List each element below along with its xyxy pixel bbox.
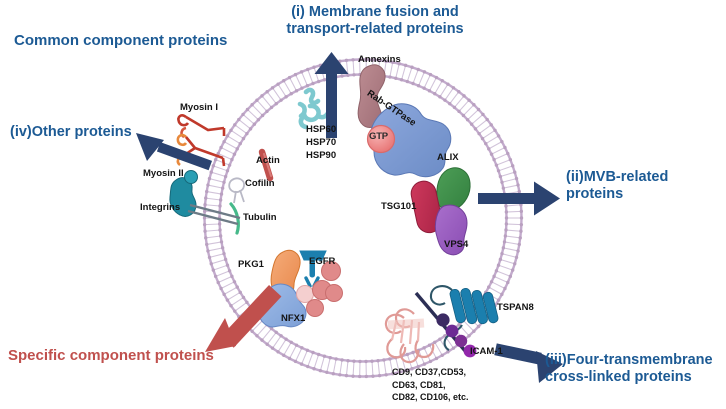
heading-i-line2: transport-related proteins: [286, 21, 463, 37]
hsp-chaperone-icon: [300, 90, 329, 127]
label-cd-line3: CD82, CD106, etc.: [392, 392, 469, 402]
label-hsp-group: HSP60 HSP70 HSP90: [306, 124, 336, 162]
heading-common-component-proteins: Common component proteins: [14, 32, 227, 49]
label-hsp70: HSP70: [306, 137, 336, 148]
cofilin-protein: [229, 178, 244, 203]
label-cd-line1: CD9, CD37,CD53,: [392, 367, 466, 377]
arrow-to-other-proteins: [136, 133, 212, 170]
label-myosin-2: Myosin II: [143, 168, 184, 179]
label-tspan8: TSPAN8: [497, 302, 534, 313]
label-vps4: VPS4: [444, 239, 468, 250]
label-hsp60: HSP60: [306, 124, 336, 135]
heading-iii-line1: (iii)Four-transmembrane: [545, 352, 713, 368]
label-annexins: Annexins: [358, 54, 401, 65]
myosin-1-protein: [178, 115, 224, 137]
heading-other-proteins: (iv)Other proteins: [10, 124, 132, 141]
heading-iii-line2: cross-linked proteins: [545, 369, 692, 385]
label-integrins: Integrins: [140, 202, 180, 213]
heading-i-line1: (i) Membrane fusion and: [291, 4, 459, 20]
label-icam1: ICAM-1: [470, 346, 503, 357]
label-nfx1: NFX1: [281, 313, 305, 324]
label-myosin-1: Myosin I: [180, 102, 218, 113]
label-gtp: GTP: [369, 131, 388, 142]
alix-protein: [437, 168, 470, 211]
label-cd-markers: CD9, CD37,CD53, CD63, CD81, CD82, CD106,…: [392, 366, 469, 404]
heading-mvb-related-proteins: (ii)MVB-related proteins: [566, 169, 726, 202]
figure-canvas: Common component proteins Specific compo…: [0, 0, 726, 409]
heading-membrane-fusion-transport-proteins: (i) Membrane fusion and transport-relate…: [270, 4, 480, 37]
label-actin: Actin: [256, 155, 280, 166]
heading-four-transmembrane-cross-linked-proteins: (iii)Four-transmembrane cross-linked pro…: [545, 352, 713, 385]
label-cd-line2: CD63, CD81,: [392, 380, 446, 390]
label-hsp90: HSP90: [306, 150, 336, 161]
label-pkg1: PKG1: [238, 259, 264, 270]
label-alix: ALIX: [437, 152, 459, 163]
label-tubulin: Tubulin: [243, 212, 277, 223]
label-egfr: EGFR: [309, 256, 335, 267]
label-tsg101: TSG101: [381, 201, 416, 212]
heading-specific-component-proteins: Specific component proteins: [8, 347, 214, 364]
label-cofilin: Cofilin: [245, 178, 275, 189]
